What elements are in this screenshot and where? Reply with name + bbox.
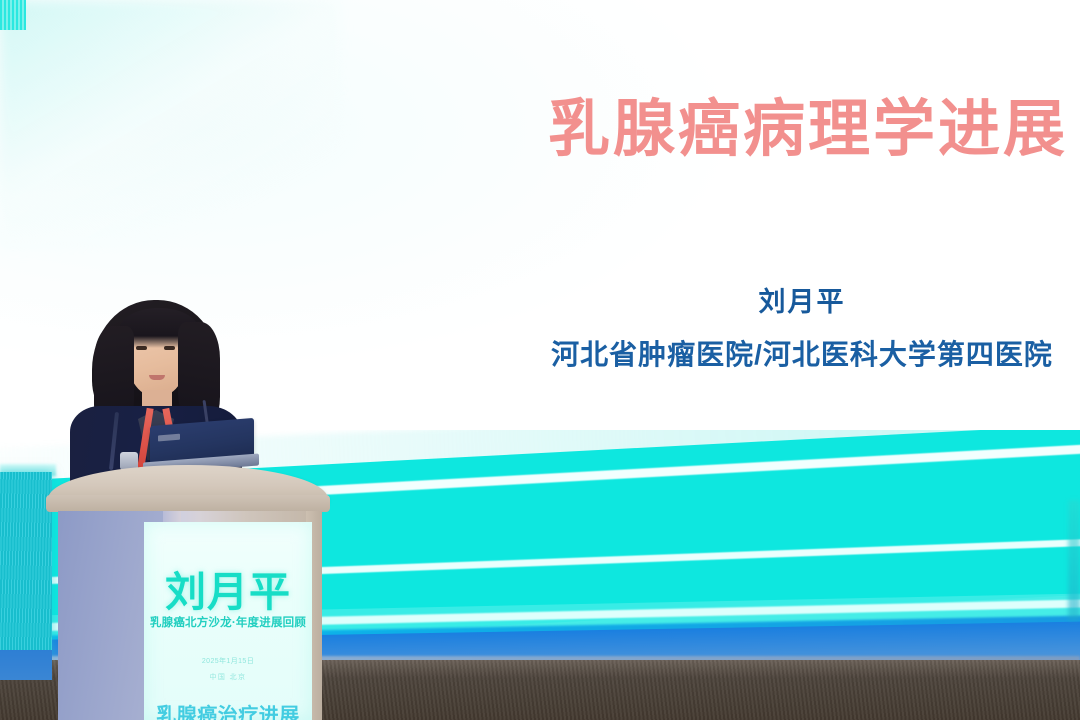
nameplate-event-subtitle: 乳腺癌北方沙龙·年度进展回顾 [144, 614, 312, 630]
left-led-panel [0, 472, 52, 657]
laptop-brand-logo [158, 434, 180, 442]
screen-top-wash [0, 0, 340, 250]
speaker-mouth [149, 375, 165, 380]
slide-title: 乳腺癌病理学进展 [548, 78, 1068, 168]
right-led-sliver [1068, 500, 1080, 620]
slide-presenter-name: 刘月平 [542, 280, 1062, 319]
left-led-panel-base [0, 650, 52, 680]
nameplate-date: 2025年1月15日 [144, 656, 312, 666]
nameplate-footer-text: 乳腺癌治疗进展 [144, 699, 312, 720]
lectern-nameplate: 刘月平 乳腺癌北方沙龙·年度进展回顾 2025年1月15日 中国 北京 乳腺癌治… [144, 522, 312, 720]
slide-affiliation: 河北省肿瘤医院/河北医科大学第四医院 [532, 333, 1072, 373]
conference-stage-photo: 乳腺癌病理学进展 刘月平 河北省肿瘤医院/河北医科大学第四医院 [0, 0, 1080, 720]
lectern-front-lip [46, 495, 330, 512]
nameplate-location: 中国 北京 [144, 672, 312, 682]
nameplate-speaker-name: 刘月平 [144, 558, 312, 618]
led-pixel-strip [0, 0, 26, 30]
lectern: 刘月平 乳腺癌北方沙龙·年度进展回顾 2025年1月15日 中国 北京 乳腺癌治… [48, 465, 328, 720]
